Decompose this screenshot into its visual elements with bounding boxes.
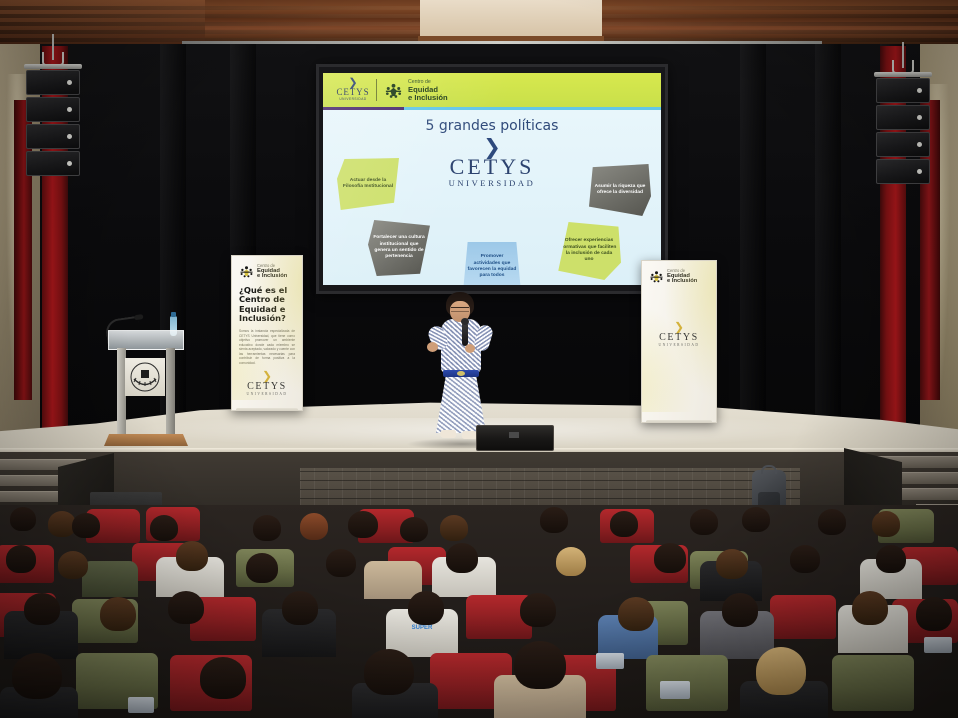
cetys-seal-icon: [125, 358, 165, 396]
laptop[interactable]: [924, 637, 952, 653]
shirt-graphic: SUPER: [386, 625, 458, 631]
stage-monitor-speaker: [476, 425, 554, 451]
cetys-swoosh-icon-banner-right: ❯: [642, 323, 716, 332]
audience-head: [300, 513, 328, 540]
audience-head: [400, 517, 428, 542]
projected-slide: ❯ CETYS UNIVERSIDAD: [323, 73, 661, 285]
cetys-swoosh-large-icon: ❯: [449, 140, 536, 155]
audience-head: [72, 513, 100, 538]
podium: [108, 318, 184, 448]
audience-head: [10, 507, 36, 531]
banner-left-brand: CETYS: [232, 381, 302, 392]
laptop[interactable]: [596, 653, 624, 669]
audience-head: [690, 509, 718, 535]
seat[interactable]: [770, 595, 836, 639]
slide-cetys-logo: ❯ CETYS UNIVERSIDAD: [332, 80, 374, 101]
center-cetys-word: CETYS: [449, 155, 536, 178]
policy-bubble-5: Promover actividades que favorecen la eq…: [463, 242, 521, 285]
banner-right-cetys-logo: ❯ CETYS UNIVERSIDAD: [642, 323, 716, 347]
audience-head: [818, 509, 846, 535]
rollup-banner-right: Centro de Equidad e Inclusión ❯ CETYS UN…: [641, 260, 717, 423]
audience-head: [440, 515, 468, 541]
center-cetys-sub: UNIVERSIDAD: [449, 178, 536, 188]
banner-left-brand-sub: UNIVERSIDAD: [232, 392, 302, 396]
cetys-swoosh-icon-banner-left: ❯: [232, 372, 302, 381]
audience-head: [540, 507, 568, 533]
audience-head: [446, 543, 478, 573]
org-line-3: e Inclusión: [408, 94, 448, 101]
audience-head: [200, 657, 246, 699]
audience-torso: [82, 561, 138, 597]
audience-head: [556, 547, 586, 576]
audience-head: [610, 511, 638, 537]
policy-bubble-2: Asumir la riqueza que ofrece la diversid…: [589, 164, 651, 216]
cetys-swoosh-icon: ❯: [348, 80, 357, 87]
audience-head: [852, 591, 888, 625]
projection-screen: ❯ CETYS UNIVERSIDAD: [316, 64, 668, 294]
audience-head: [756, 647, 806, 695]
slide-body: 5 grandes políticas ❯ CETYS UNIVERSIDAD …: [323, 110, 661, 285]
presenter: [424, 292, 498, 444]
banner-left-cetys-logo: ❯ CETYS UNIVERSIDAD: [232, 372, 302, 396]
tablet[interactable]: [660, 681, 690, 699]
audience-head: [520, 593, 556, 627]
rollup-banner-left: Centro de Equidad e Inclusión ¿Qué es el…: [231, 255, 303, 411]
audience-torso: [364, 561, 422, 599]
audience-head: [100, 597, 136, 631]
slide-center-logo: ❯ CETYS UNIVERSIDAD: [449, 140, 536, 188]
ceiling-soffit: [420, 0, 602, 38]
audience-head: [12, 653, 62, 699]
slide-header-band: ❯ CETYS UNIVERSIDAD: [323, 73, 661, 107]
audience-head: [348, 511, 378, 538]
audience-head: [282, 591, 318, 625]
audience-head: [176, 541, 208, 571]
cetys-wordmark: CETYS: [336, 87, 369, 97]
audience-head: [6, 545, 36, 573]
slide-title: 5 grandes políticas: [323, 118, 661, 134]
banner-right-brand: CETYS: [642, 332, 716, 343]
audience-head: [722, 593, 758, 627]
eyeglasses-icon: [451, 307, 469, 312]
audience-head: [168, 591, 204, 624]
audience-head: [326, 549, 356, 577]
equidad-inclusion-label: Centro de Equidad e Inclusión: [408, 79, 448, 101]
audience-head: [790, 545, 820, 573]
audience-head: [872, 511, 900, 537]
policy-bubble-1: Actuar desde la Filosofía Institucional: [337, 158, 399, 210]
audience-head: [246, 553, 278, 583]
audience-head: [742, 507, 770, 532]
seat[interactable]: [832, 655, 914, 711]
audience-head: [58, 551, 88, 579]
audience-head: [618, 597, 654, 631]
header-divider: [376, 79, 377, 101]
audience-head: [716, 549, 748, 579]
audience-seating: SUPER: [0, 505, 958, 718]
audience-head: [24, 593, 60, 625]
audience-head: [876, 545, 906, 573]
audience-head: [654, 543, 686, 573]
banner-right-brand-sub: UNIVERSIDAD: [642, 343, 716, 347]
policy-bubble-4: Ofrecer experiencias formativas que faci…: [557, 222, 621, 280]
handheld-microphone-icon: [462, 322, 468, 346]
audience-head: [150, 515, 178, 541]
policy-bubble-3: Fortalecer una cultura institucional que…: [368, 220, 430, 276]
audience-head: [408, 591, 444, 625]
cetys-sub-wordmark: UNIVERSIDAD: [339, 97, 366, 101]
audience-head: [514, 641, 566, 689]
audience-head: [916, 597, 952, 631]
equidad-inclusion-icon: [384, 81, 403, 100]
audience-head: [364, 649, 414, 695]
auditorium-scene: ❯ CETYS UNIVERSIDAD: [0, 0, 958, 718]
audience-head: [253, 515, 281, 541]
phone[interactable]: [128, 697, 154, 713]
